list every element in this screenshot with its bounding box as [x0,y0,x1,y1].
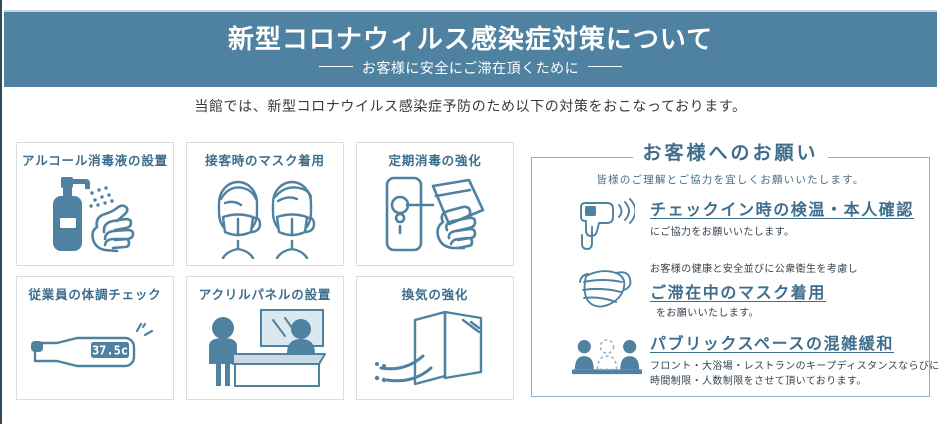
request-item-public-space: パブリックスペースの混雑緩和 フロント・大浴場・レストランのキープディスタンスな… [544,330,919,392]
request-item-headline: チェックイン時の検温・本人確認 [650,196,914,220]
panel-title-text: お客様へのお願い [633,138,827,165]
measure-card-title: アクリルパネルの設置 [187,284,343,303]
rule-right [588,66,622,67]
request-item-body: パブリックスペースの混雑緩和 フロント・大浴場・レストランのキープディスタンスな… [650,330,918,389]
measure-card-acrylic-panel: アクリルパネルの設置 [186,276,344,400]
measure-card-disinfection: 定期消毒の強化 [356,142,514,266]
request-item-post-line1: フロント・大浴場・レストランのキープディスタンスならびに [650,361,940,372]
measures-grid: アルコール消毒液の設置 [16,142,513,400]
header-subtitle: お客様に安全にご滞在頂くために [362,60,579,76]
sanitizer-dispenser-hand-icon [17,169,173,263]
page-root: 新型コロナウィルス感染症対策について お客様に安全にご滞在頂くために 当館では、… [0,0,950,424]
measure-card-title: アルコール消毒液の設置 [17,150,173,169]
panel-subtitle: 皆様のご理解とご協力を宜しくお願いいたします。 [532,172,929,187]
door-handle-wipe-icon [357,169,513,263]
rule-left [319,66,353,67]
request-item-post-line2: 時間制限・人数制限をさせて頂いております。 [650,374,918,389]
request-item-temperature-check: チェックイン時の検温・本人確認 にご協力をお願いいたします。 [544,196,919,258]
guest-request-panel: 皆様のご理解とご協力を宜しくお願いいたします。 チェックイン時の検温・本人確認 … [531,157,930,397]
measure-card-staff-health: 従業員の体調チェック 37.5c [16,276,174,400]
thermometer-reading: 37.5c [92,344,128,358]
page-title: 新型コロナウィルス感染症対策について [4,19,937,56]
open-window-airflow-icon [357,303,513,397]
forehead-thermometer-gun-icon [572,196,642,252]
measure-card-title: 従業員の体調チェック [17,284,173,303]
request-item-headline: ご滞在中のマスク着用 [650,279,826,303]
measure-card-sanitizer: アルコール消毒液の設置 [16,142,174,266]
surgical-mask-icon [572,260,642,316]
digital-thermometer-icon: 37.5c [17,303,173,397]
request-item-body: お客様の健康と安全並びに公衆衛生を考慮し ご滞在中のマスク着用をお願いいたします… [650,260,918,321]
measure-card-staff-mask: 接客時のマスク着用 [186,142,344,266]
request-item-post: にご協力をお願いいたします。 [650,225,918,240]
measure-card-ventilation: 換気の強化 [356,276,514,400]
request-item-pre: お客様の健康と安全並びに公衆衛生を考慮し [650,260,918,275]
header-banner: 新型コロナウィルス感染症対策について お客様に安全にご滞在頂くために [4,12,937,87]
request-item-tail: をお願いいたします。 [656,308,759,319]
request-item-post: フロント・大浴場・レストランのキープディスタンスならびに 時間制限・人数制限をさ… [650,359,918,389]
acrylic-panel-counter-icon [187,303,343,397]
two-faces-with-masks-icon [187,169,343,263]
measure-card-title: 接客時のマスク着用 [187,150,343,169]
measure-card-title: 定期消毒の強化 [357,150,513,169]
seated-people-distancing-icon [572,330,642,386]
request-item-body: チェックイン時の検温・本人確認 にご協力をお願いいたします。 [650,196,918,240]
intro-text: 当館では、新型コロナウイルス感染症予防のため以下の対策をおこなっております。 [4,96,937,116]
header-subtitle-row: お客様に安全にご滞在頂くために [4,58,937,78]
request-item-headline: パブリックスペースの混雑緩和 [650,330,894,354]
measure-card-title: 換気の強化 [357,284,513,303]
panel-title: お客様へのお願い [531,138,930,165]
request-item-wear-mask: お客様の健康と安全並びに公衆衛生を考慮し ご滞在中のマスク着用をお願いいたします… [544,260,919,326]
